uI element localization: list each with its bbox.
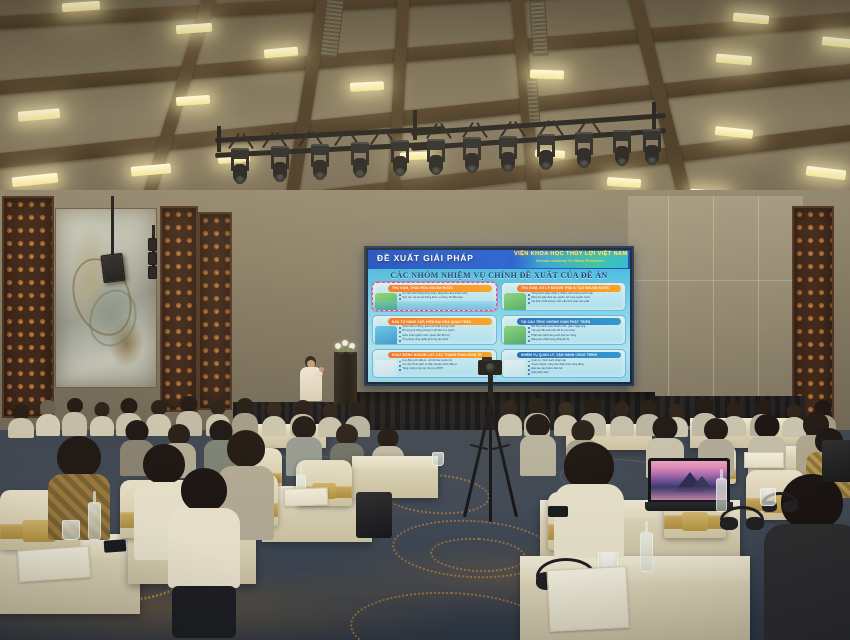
conference-hall-photo: ĐỀ XUẤT GIẢI PHÁP VIỆN KHOA HỌC THỦY LỢI… [0,0,850,640]
slide-right-column: THU GOM, XỬ LÝ NGUỒN THẢI & TẠO NGUỒN NƯ… [501,282,626,378]
moving-head-light [575,132,593,168]
slide-bullets: Quan trắc tự động, giám sát chất lượng n… [399,326,493,343]
slide-box: TÁI CẤU TRÚC KHÔNG GIAN PHÁT TRIỂN Kết h… [501,315,626,344]
slide-title: ĐỀ XUẤT GIẢI PHÁP [377,253,474,263]
water-glass[interactable] [62,520,80,540]
slide-bullet: Tăng cường hợp tác công tư (PPP) [402,368,443,371]
audience-member [36,400,60,436]
moving-head-light [613,130,631,166]
moving-head-light [231,148,249,184]
lattice-screen-left-3 [198,212,232,410]
moving-head-light [537,134,555,170]
moving-head-light [463,137,481,173]
tripod-leg [463,404,492,518]
smartphone[interactable] [548,506,568,517]
podium [334,352,357,404]
camera-tripod[interactable] [462,360,518,520]
slide-bullets: Ưu tiên khơi thông dòng chảy, tăng khả n… [399,293,493,301]
slide-box: THU GOM, THAU RỬA NGUỒN NƯỚC Ưu tiên khơ… [372,282,497,311]
video-camera[interactable] [478,360,502,375]
document[interactable] [744,452,784,468]
bag [822,440,850,482]
moving-head-light [499,136,517,172]
water-bottle[interactable] [88,502,101,540]
audience-member [8,404,34,438]
document[interactable] [284,487,329,507]
water-bottle[interactable] [640,532,653,572]
water-bottle[interactable] [716,478,727,512]
slide-bullets: Kết hợp cảnh quan thoát nước, giảm ngập … [528,326,622,343]
org-name: VIỆN KHOA HỌC THỦY LỢI VIỆT NAM [514,251,626,257]
audience-member [748,414,786,478]
moving-head-light [643,129,661,165]
slide-box-title: NHIỆM VỤ QUẢN LÝ, VẬN HÀNH CÔNG TRÌNH [521,353,597,357]
slide-bullet: Cải thiện chất lượng nước cấp sinh hoạt,… [531,301,589,304]
slide-bullet: Ứng dụng công nghệ số trong vận hành [402,339,448,342]
lattice-screen-left-2 [160,206,198,412]
tripod-leg [489,404,492,522]
ceiling-light [806,166,847,181]
ceiling-light [822,36,850,49]
ceiling-light [176,23,213,34]
slide-box-title: ĐẦU TƯ NÂNG CẤP, HIỆN ĐẠI HÓA QUAN TRẮC [392,320,471,324]
slide-box: THU GOM, XỬ LÝ NGUỒN THẢI & TẠO NGUỒN NƯ… [501,282,626,311]
audience-member [520,414,556,476]
audience-member [62,398,87,436]
ceiling-light [18,108,61,122]
org-subtitle: Vietnam Academy for Water Resources [514,259,626,263]
slide-box: NHIỆM VỤ QUẢN LÝ, VẬN HÀNH CÔNG TRÌNH Qu… [501,349,626,378]
slide-box-header: THU GOM, THAU RỬA NGUỒN NƯỚC [388,285,492,292]
speaker-small [148,266,157,279]
moving-head-light [311,144,329,180]
line-array-speaker [100,253,125,283]
camera-lens [486,363,495,372]
slide-bullet: Bổ sung hệ thống thông tin dữ liệu trực … [402,330,454,333]
slide-bullet: Nạo vét, cải tạo hệ thống kênh, mương, h… [402,297,462,300]
moving-head-light [271,146,289,182]
air-vent [529,0,549,56]
speaker-small [148,252,157,265]
ceiling-light [715,126,754,139]
slide-illustration [375,326,397,344]
audience-member [90,402,114,436]
ceiling-light [716,53,753,65]
slide-wave-graphic [373,301,496,310]
slide-box-title: THU GOM, THAU RỬA NGUỒN NƯỚC [392,286,454,290]
slide-illustration [375,360,397,378]
lattice-screen-left-1 [2,196,54,418]
slide-bullet: Nâng cao chất lượng sống đô thị [531,339,569,342]
tripod-leg [489,404,518,518]
slide-box-title: THU GOM, XỬ LÝ NGUỒN THẢI & TẠO NGUỒN NƯ… [521,286,609,290]
smartphone[interactable] [104,539,127,553]
wall-artwork [55,208,157,388]
speaker-small [148,238,157,251]
slide-box: ĐẦU TƯ NÂNG CẤP, HIỆN ĐẠI HÓA QUAN TRẮC … [372,315,497,344]
document-folder[interactable] [546,566,629,632]
moving-head-light [427,139,445,175]
ceiling-light [350,81,384,92]
slide-box-header: HOẠT ĐỘNG NGUỒN LỰC CÁC THÀNH PHẦN KINH … [388,352,492,359]
audience-member [610,402,634,436]
ceiling-light [530,69,564,79]
water-glass[interactable] [760,488,776,506]
slide-illustration [504,293,526,311]
slide-box-header: THU GOM, XỬ LÝ NGUỒN THẢI & TẠO NGUỒN NƯ… [517,285,621,292]
ceiling-light [176,95,211,106]
slide-bullets: Quản lý, chính sách pháp luật Tuyên truy… [528,360,622,377]
slide-bullets: Từng bước giảm thiểu ô nhiễm môi trường … [528,293,622,305]
document[interactable] [17,546,91,583]
lattice-screen-right [792,206,834,426]
slide-box-header: ĐẦU TƯ NÂNG CẤP, HIỆN ĐẠI HÓA QUAN TRẮC [388,318,492,325]
audience-member-foreground [554,442,624,558]
flower-arrangement [333,338,359,354]
slide-bullet: Tạo quỹ đất phát triển đô thị ven sông [531,330,575,333]
slide-box-header: NHIỆM VỤ QUẢN LÝ, VẬN HÀNH CÔNG TRÌNH [517,352,621,359]
ceiling-light [131,163,172,176]
tripod-head [488,374,493,400]
ceiling-light [12,173,59,188]
moving-head-light [351,142,369,178]
audience-member-foreground [168,468,240,638]
speaker-pole [111,196,114,254]
slide-bullet: Giải pháp mềm [531,372,549,375]
bag [356,492,392,538]
slide-box-title: HOẠT ĐỘNG NGUỒN LỰC CÁC THÀNH PHẦN KINH … [392,353,482,357]
ceiling [0,0,850,215]
moving-head-light [391,140,409,176]
slide-box-title: TÁI CẤU TRÚC KHÔNG GIAN PHÁT TRIỂN [521,320,590,324]
slide-heading: CÁC NHÓM NHIỆM VỤ CHÍNH ĐỀ XUẤT CỦA ĐỀ Á… [368,271,630,280]
air-vent [525,78,540,125]
water-glass[interactable] [432,452,444,466]
slide-box-header: TÁI CẤU TRÚC KHÔNG GIAN PHÁT TRIỂN [517,318,621,325]
slide-illustration [504,326,526,344]
